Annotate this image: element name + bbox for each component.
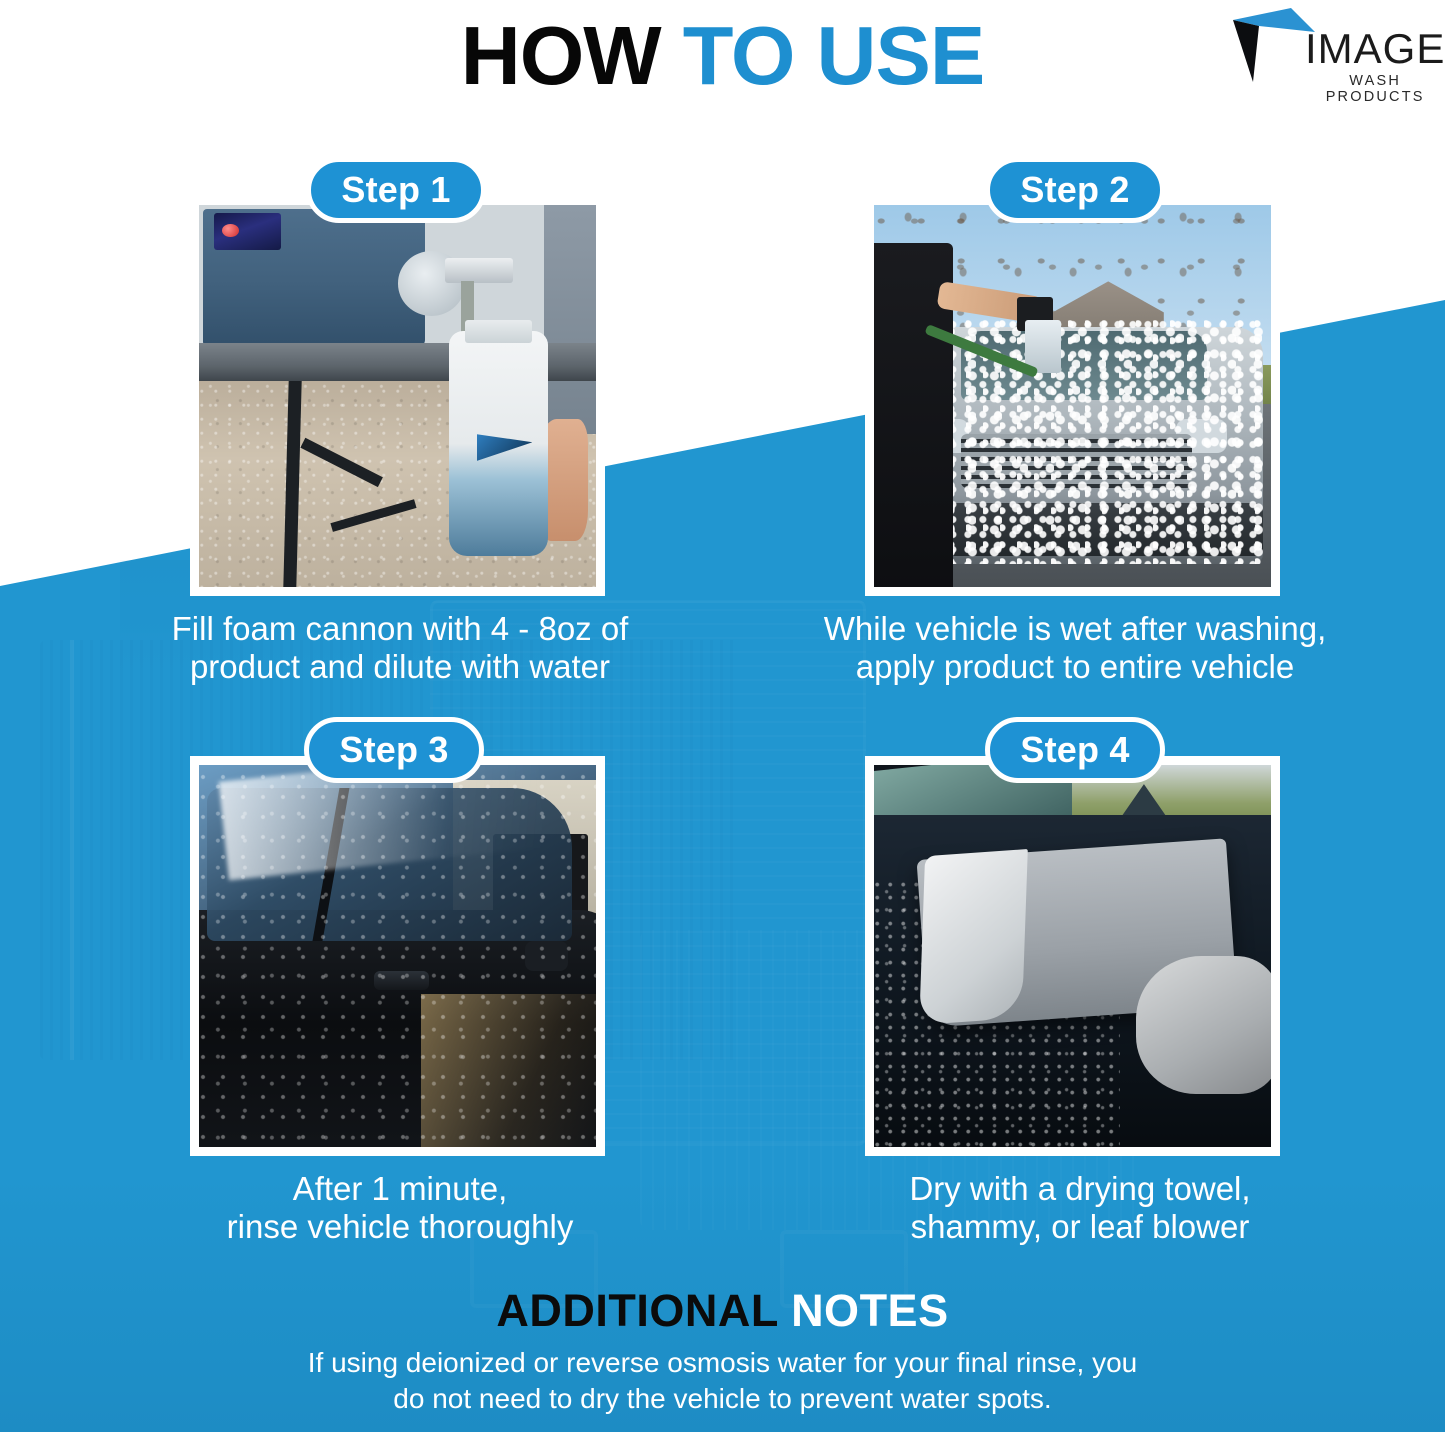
step-badge-2: Step 2 [985,157,1165,223]
step-badge-3: Step 3 [304,717,484,783]
additional-notes-body: If using deionized or reverse osmosis wa… [0,1345,1445,1417]
step-badge-4-label: Step 4 [1020,729,1129,771]
step-card-1 [190,196,605,596]
step-photo-3-art [199,765,596,1147]
step-photo-1 [190,196,605,596]
logo-text: IMAGE WASH PRODUCTS [1305,28,1445,105]
page-title-black: HOW [461,9,683,102]
step-badge-1: Step 1 [306,157,486,223]
step-photo-3 [190,756,605,1156]
additional-notes-section: ADDITIONAL NOTES If using deionized or r… [0,1288,1445,1417]
step-badge-4: Step 4 [985,717,1165,783]
infographic-page: HOW TO USE IMAGE WASH PRODUCTS [0,0,1445,1432]
step-caption-2: While vehicle is wet after washing, appl… [775,610,1375,686]
additional-notes-title-black: ADDITIONAL [496,1285,791,1336]
step-caption-4: Dry with a drying towel, shammy, or leaf… [790,1170,1370,1246]
step-card-3 [190,756,605,1156]
step-badge-2-label: Step 2 [1020,169,1129,211]
logo-name: IMAGE [1305,28,1445,70]
step-badge-1-label: Step 1 [341,169,450,211]
page-title-blue: TO USE [683,9,984,102]
step-photo-2-art [874,205,1271,587]
step-caption-3: After 1 minute, rinse vehicle thoroughly [110,1170,690,1246]
logo-tagline: WASH PRODUCTS [1305,73,1445,105]
brand-logo: IMAGE WASH PRODUCTS [1227,6,1427,102]
header: HOW TO USE IMAGE WASH PRODUCTS [0,0,1445,130]
step-card-4 [865,756,1280,1156]
step-badge-3-label: Step 3 [339,729,448,771]
step-photo-4-art [874,765,1271,1147]
step-photo-4 [865,756,1280,1156]
step-card-2 [865,196,1280,596]
step-photo-1-art [199,205,596,587]
additional-notes-title-white: NOTES [791,1285,949,1336]
additional-notes-title: ADDITIONAL NOTES [0,1288,1445,1333]
step-photo-2 [865,196,1280,596]
step-caption-1: Fill foam cannon with 4 - 8oz of product… [100,610,700,686]
